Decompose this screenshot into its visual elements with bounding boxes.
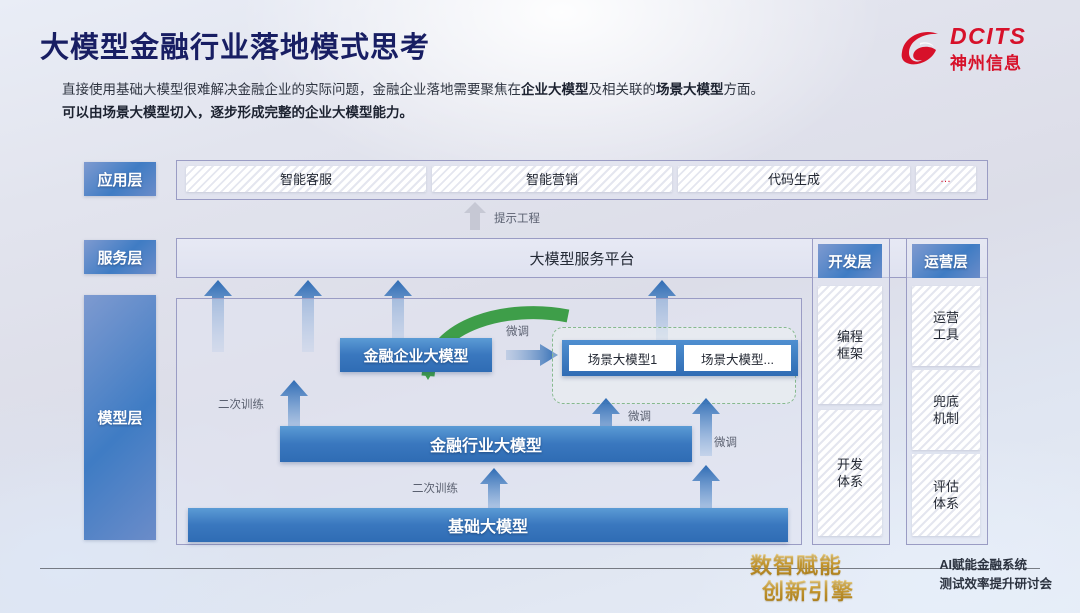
subtitle-emph-enterprise: 企业大模型 <box>521 82 589 97</box>
finetune-arrow-right-icon <box>506 344 558 371</box>
scenario-model-1[interactable]: 场景大模型1 <box>569 345 676 371</box>
event-line-1: AI赋能金融系统 <box>939 556 1052 575</box>
retrain-label-bottom: 二次训练 <box>412 480 458 496</box>
retrain-label-top: 二次训练 <box>218 396 264 412</box>
subtitle-seg-1: 直接使用基础大模型很难解决金融企业的实际问题，金融企业落地需要聚焦在 <box>62 82 521 97</box>
page-subtitle: 直接使用基础大模型很难解决金融企业的实际问题，金融企业落地需要聚焦在企业大模型及… <box>62 78 892 124</box>
scenario-model-more[interactable]: 场景大模型... <box>684 345 791 371</box>
ops-cell-fallback[interactable]: 兜底 机制 <box>912 370 980 450</box>
watermark-line-2: 创新引擎 <box>762 574 854 606</box>
dev-cell-dev-system[interactable]: 开发 体系 <box>818 410 882 536</box>
layer-tag-service: 服务层 <box>84 240 156 274</box>
scenario-models-container: 场景大模型1 场景大模型... <box>562 340 798 376</box>
arrow-up-scenario-2-icon <box>692 398 720 461</box>
subtitle-seg-2: 及相关联的 <box>589 82 657 97</box>
logo-wordmark: DCITS <box>950 23 1027 50</box>
event-name: AI赋能金融系统 测试效率提升研讨会 <box>939 556 1052 594</box>
finetune-label-right: 微调 <box>714 434 737 450</box>
industry-model-box[interactable]: 金融行业大模型 <box>280 426 692 462</box>
app-cell-code-generation[interactable]: 代码生成 <box>678 166 910 192</box>
ellipsis-icon: … <box>940 171 952 188</box>
subtitle-seg-3: 方面。 <box>724 82 765 97</box>
finetune-label-top: 微调 <box>506 323 529 339</box>
app-cell-smart-marketing[interactable]: 智能营销 <box>432 166 672 192</box>
dev-layer-header: 开发层 <box>818 244 882 278</box>
event-watermark: 数智赋能 创新引擎 <box>750 548 870 606</box>
prompt-engineering-arrow-icon <box>464 202 486 235</box>
app-cell-smart-service[interactable]: 智能客服 <box>186 166 426 192</box>
architecture-diagram: 应用层 服务层 模型层 智能客服 智能营销 代码生成 … 提示工程 大模型服务平… <box>0 140 1080 560</box>
layer-tag-application: 应用层 <box>84 162 156 196</box>
enterprise-model-box[interactable]: 金融企业大模型 <box>340 338 492 372</box>
event-line-2: 测试效率提升研讨会 <box>939 575 1052 594</box>
finetune-label-scenario: 微调 <box>628 408 651 424</box>
dev-cell-programming-framework[interactable]: 编程 框架 <box>818 286 882 404</box>
ops-cell-ops-tools[interactable]: 运营 工具 <box>912 286 980 366</box>
subtitle-line-2: 可以由场景大模型切入，逐步形成完整的企业大模型能力。 <box>62 101 892 124</box>
page-title: 大模型金融行业落地模式思考 <box>40 24 430 66</box>
app-cell-more[interactable]: … <box>916 166 976 192</box>
ops-layer-header: 运营层 <box>912 244 980 278</box>
layer-tag-model: 模型层 <box>84 295 156 540</box>
base-model-box[interactable]: 基础大模型 <box>188 508 788 542</box>
page-header: 大模型金融行业落地模式思考 直接使用基础大模型很难解决金融企业的实际问题，金融企… <box>0 0 1080 140</box>
brand-logo: DCITS 神州信息 <box>898 22 1058 76</box>
prompt-engineering-label: 提示工程 <box>494 210 540 226</box>
ops-cell-evaluation[interactable]: 评估 体系 <box>912 454 980 536</box>
footer-divider <box>40 568 1040 569</box>
swirl-icon <box>898 26 944 70</box>
logo-wordmark-cn: 神州信息 <box>950 49 1022 74</box>
subtitle-emph-scenario: 场景大模型 <box>656 82 724 97</box>
